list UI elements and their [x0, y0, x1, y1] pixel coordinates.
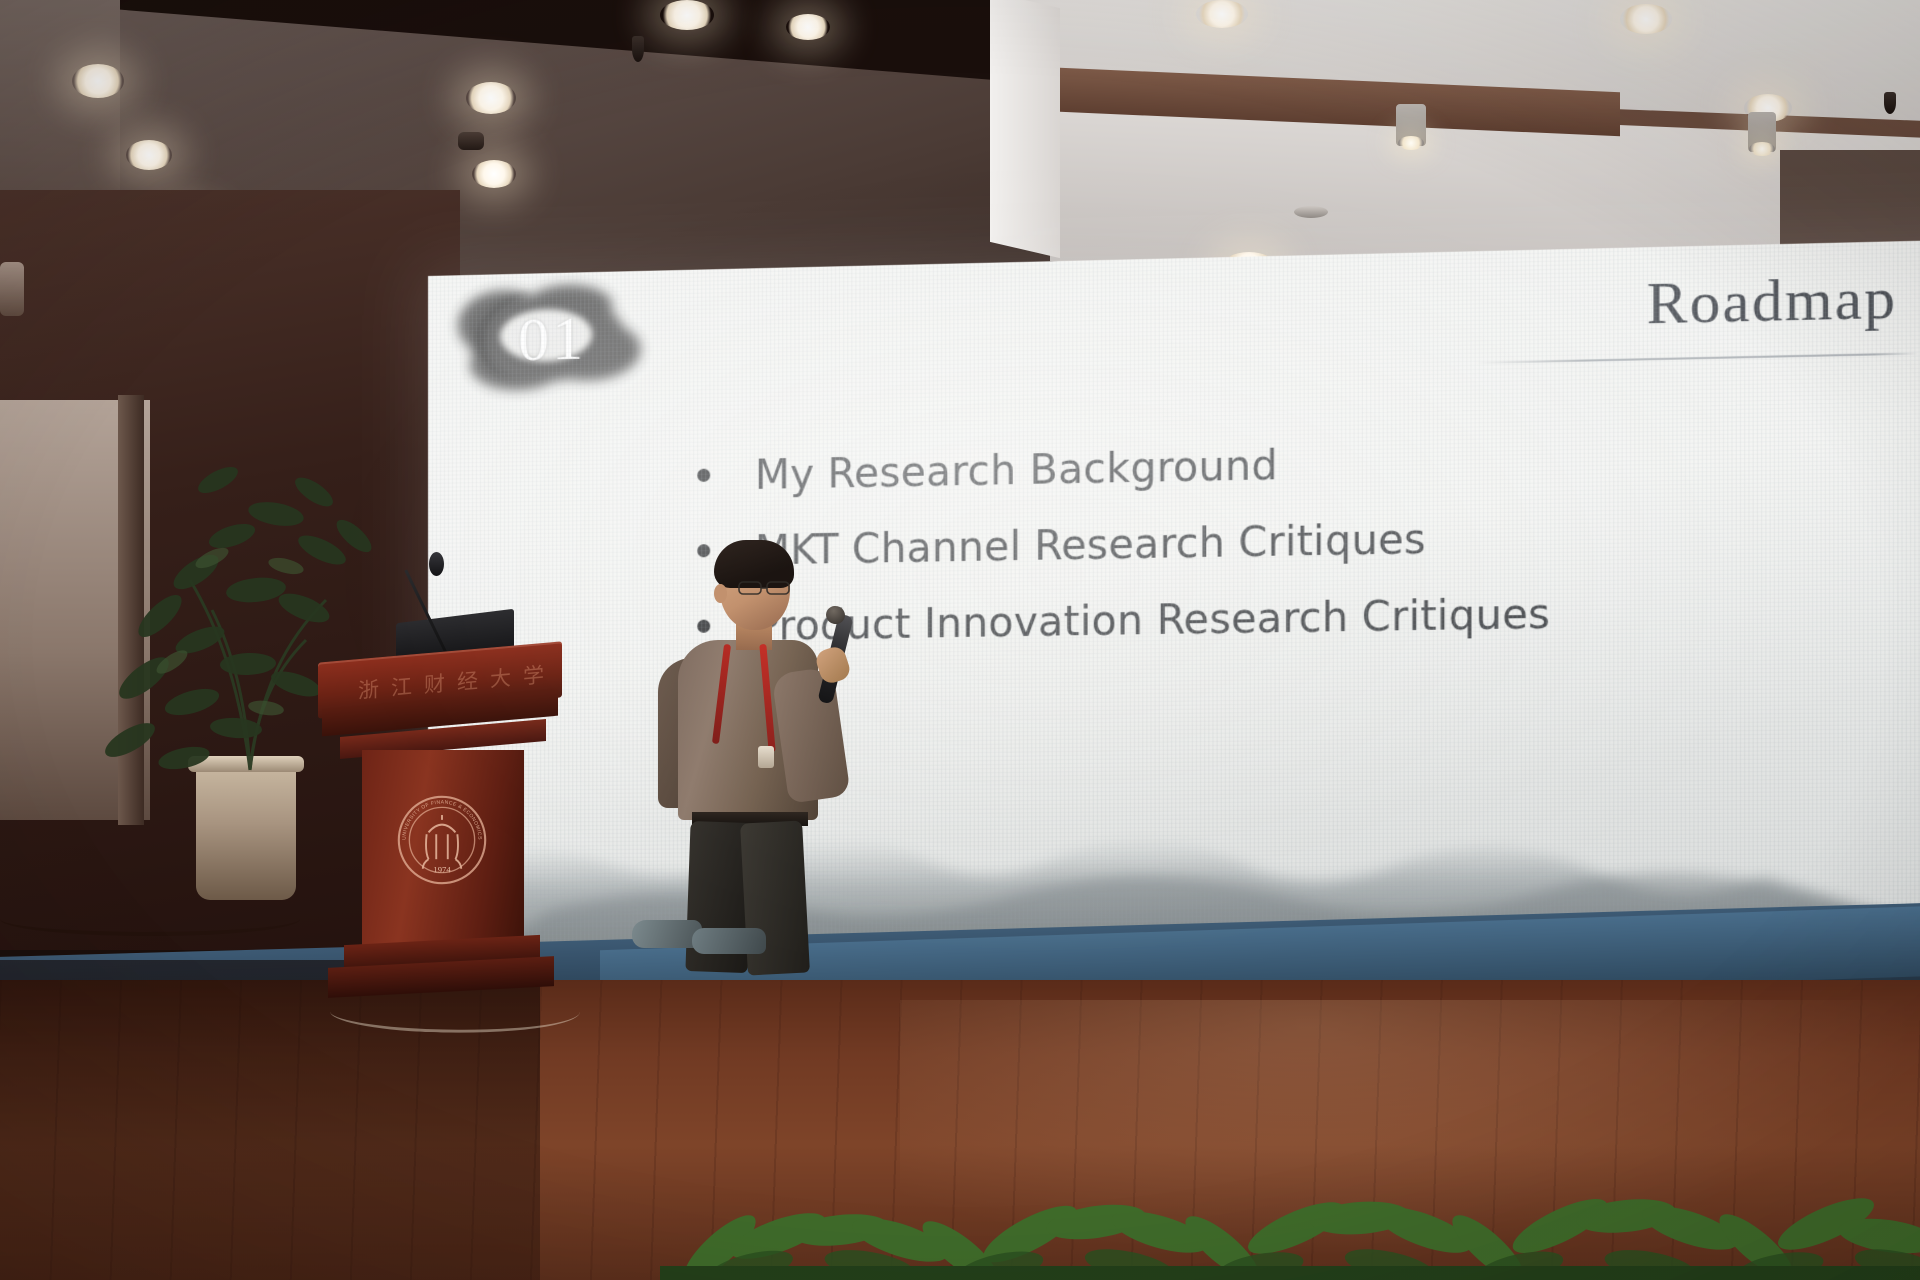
seal-arc-text: UNIVERSITY OF FINANCE & ECONOMICS — [401, 799, 482, 840]
slide-number-badge: 01 — [428, 256, 669, 422]
university-seal-icon: UNIVERSITY OF FINANCE & ECONOMICS 1974 — [394, 792, 490, 888]
slide-title: Roadmap — [1647, 268, 1898, 333]
lectern: 浙江财经大学 UNIVERSITY OF FINANCE & ECONOMICS — [300, 610, 570, 1010]
gooseneck-mic-head-icon — [429, 552, 444, 576]
seal-year: 1974 — [433, 865, 451, 875]
foreground-plants — [660, 1140, 1920, 1280]
presenter — [640, 540, 890, 970]
downlight-icon — [72, 64, 124, 98]
bullet-dot-icon — [697, 469, 710, 482]
presenter-ear — [714, 584, 727, 603]
downlight-icon — [660, 0, 714, 30]
presentation-photo: 01 Roadmap My Research Background MKT Ch… — [0, 0, 1920, 1280]
downlight-icon — [126, 140, 172, 170]
ceiling-edge — [990, 0, 1060, 258]
eyeglasses-icon — [738, 580, 794, 597]
downlight-icon — [466, 82, 516, 114]
downlight-icon — [1196, 0, 1248, 28]
bullet-text: My Research Background — [755, 441, 1278, 500]
smoke-detector-icon — [458, 132, 484, 150]
floor-cable — [0, 902, 300, 936]
title-underline — [1475, 352, 1919, 363]
wall-speaker-icon — [0, 262, 24, 316]
svg-text:UNIVERSITY OF FINANCE & ECONOM: UNIVERSITY OF FINANCE & ECONOMICS — [401, 799, 482, 840]
sprinkler-icon — [1884, 92, 1896, 114]
downlight-icon — [472, 160, 516, 188]
downlight-icon — [1620, 4, 1672, 34]
presenter-shoe — [692, 928, 766, 954]
name-badge — [758, 746, 774, 768]
track-light-icon — [1396, 104, 1426, 146]
list-item: My Research Background — [697, 436, 1550, 502]
sprinkler-icon — [632, 36, 644, 62]
downlight-icon — [786, 14, 830, 40]
smoke-detector-icon — [1294, 206, 1328, 218]
track-light-icon — [1748, 112, 1776, 152]
slide-number-text: 01 — [428, 256, 669, 422]
